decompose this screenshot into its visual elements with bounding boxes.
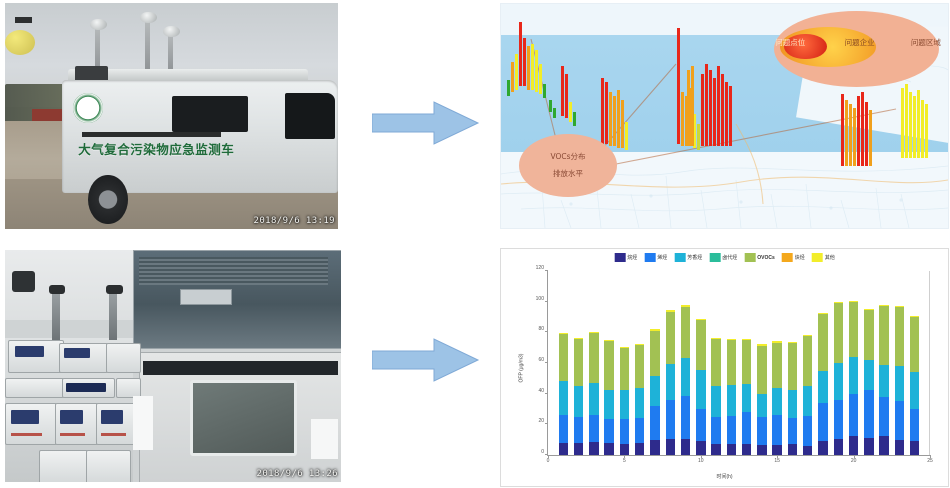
chart-legend-item[interactable]: 其他 [812,253,835,262]
lab-monitor-screen [193,383,294,453]
chart-bar-segment [803,386,812,417]
chart-bar-segment [910,372,919,410]
chart-bar-segment [635,418,644,443]
chart-bar-segment [834,439,843,455]
chart-bar-segment [589,415,598,441]
problem-hierarchy-diagram: 问题点位 问题企业 问题区域 [774,11,939,87]
chart-bar-segment [788,390,797,419]
lab-rack-unit-1 [5,378,64,399]
chart-legend-label: 烯烃 [657,254,667,261]
chart-bar-segment [589,383,598,416]
chart-x-tick-label: 25 [927,458,933,464]
chart-legend-swatch [614,253,625,262]
chart-x-tick-label: 10 [698,458,704,464]
chart-y-tick-mark [545,331,548,332]
lab-rack-display [66,383,106,392]
photo-monitoring-van: 大气复合污染物应急监测车 2018/9/6 13:19 [5,3,338,229]
chart-legend-label: 烷烃 [627,254,637,261]
arrow-right-icon [372,100,480,146]
chart-bar-segment [879,436,888,455]
chart-bar-segment [818,403,827,441]
chart-bar[interactable] [604,340,613,455]
chart-bar-segment [559,443,568,455]
agency-emblem [73,93,103,122]
chart-y-axis-label: OFP (μg/m3) [518,353,524,382]
lab-ceiling-fixture [12,271,36,292]
chart-bar-segment [650,440,659,455]
chart-bar-segment [604,341,613,389]
chart-y-tick-label: 40 [538,388,544,394]
lab-monitor [190,380,297,456]
chart-bar-segment [620,444,629,455]
chart-bar[interactable] [803,335,812,455]
lab-analyzer-display [15,346,45,356]
chart-bar-segment [696,320,705,370]
chart-legend-item[interactable]: 烷烃 [614,253,637,262]
chart-bar-segment [879,306,888,365]
chart-x-axis-label: 时间(h) [716,473,732,480]
lab-gc-module-1 [5,403,57,444]
chart-bar-segment [620,348,629,391]
chart-bar-segment [650,406,659,440]
chart-legend-label: OVOCs [757,255,775,261]
chart-bar-segment [818,441,827,455]
voc-distribution-bubble: VOCs分布 排放水平 [519,134,617,197]
chart-bar-segment [803,416,812,445]
chart-bar-segment [696,370,705,408]
chart-x-tick-label: 20 [851,458,857,464]
chart-legend-swatch [744,253,755,262]
chart-bar-segment [895,401,904,440]
van-body-text: 大气复合污染物应急监测车 [78,139,278,158]
chart-bar-segment [849,302,858,357]
chart-bar[interactable] [864,309,873,455]
lab-analyzer-display [64,348,90,357]
chart-bar-segment [711,417,720,444]
lab-gc-module-2 [55,403,97,444]
chart-bar-segment [910,441,919,455]
ofp-stacked-bar-chart: 烷烃烯烃芳香烃卤代烃OVOCs炔烃其他 OFP (μg/m3) 时间(h) 02… [500,248,949,487]
lab-gc-display [101,410,123,423]
chart-bar[interactable] [589,332,598,455]
chart-bar[interactable] [696,319,705,455]
chart-y-tick-label: 120 [536,265,544,271]
chart-bar[interactable] [727,339,736,455]
chart-y-tick-label: 0 [541,449,544,455]
chart-right-axis [929,271,930,455]
chart-bar-segment [559,415,568,443]
chart-bar[interactable] [895,306,904,455]
chart-bar-segment [635,443,644,455]
chart-bar-segment [696,441,705,455]
sampling-mast-head-3 [163,26,180,37]
chart-bar[interactable] [742,339,751,455]
chart-bar[interactable] [788,342,797,455]
chart-bar-segment [666,439,675,455]
chart-bar-segment [772,445,781,455]
lab-gc-brandmark [11,433,42,437]
chart-bar-segment [589,333,598,382]
chart-bar[interactable] [834,302,843,455]
chart-bar-segment [650,331,659,376]
chart-bar-segment [864,360,873,391]
slide-root: 大气复合污染物应急监测车 2018/9/6 13:19 [0,0,950,488]
chart-bar-segment [589,442,598,455]
lab-gc-display [60,410,82,423]
sampling-mast-head-1 [90,19,107,30]
chart-bar-segment [803,446,812,456]
problem-region-label: 问题区域 [843,37,949,48]
street-lamp [5,30,35,55]
chart-bar-segment [574,386,583,417]
chart-bar-segment [879,365,888,396]
chart-bar[interactable] [635,344,644,455]
chart-bar-segment [727,416,736,444]
chart-bar-segment [559,334,568,381]
chart-bar-segment [604,419,613,442]
voc-3d-map: 问题点位 问题企业 问题区域 VOCs分布 排放水平 [500,3,949,229]
chart-bar-segment [711,444,720,455]
arrow-right-bottom [372,337,480,383]
chart-y-tick-label: 20 [538,418,544,424]
lab-paper-sheet-2 [311,419,338,458]
lab-equipment-label [180,289,232,305]
chart-bar-segment [727,444,736,455]
chart-x-tick-label: 0 [547,458,550,464]
sampling-mast-2 [145,17,150,74]
lab-gc-module-3 [96,403,138,444]
chart-legend-swatch [709,253,720,262]
chart-bar[interactable] [849,301,858,455]
lab-sample-probe-head-1 [49,285,66,294]
chart-bar-segment [727,340,736,385]
chart-bar-segment [772,343,781,388]
chart-legend-item[interactable]: OVOCs [744,253,775,262]
chart-bar-segment [879,397,888,436]
chart-legend: 烷烃烯烃芳香烃卤代烃OVOCs炔烃其他 [614,253,835,262]
chart-bar[interactable] [879,305,888,455]
sampling-mast-head-2 [140,12,157,23]
chart-bar-segment [742,340,751,384]
van-cab-window [285,93,335,138]
chart-bar-segment [895,307,904,365]
chart-bar-segment [666,400,675,439]
chart-bar[interactable] [666,310,675,455]
arrow-right-top [372,100,480,146]
lab-rack-unit-2 [62,378,114,399]
chart-bar[interactable] [681,305,690,455]
chart-bar-segment [666,312,675,365]
chart-bar-segment [910,409,919,441]
chart-bar-segment [849,357,858,394]
chart-bar-segment [910,317,919,371]
chart-bar-segment [650,376,659,406]
chart-y-tick-mark [545,270,548,271]
voc-bubble-line2: 排放水平 [519,168,617,179]
chart-bar[interactable] [910,316,919,455]
chart-bar-segment [864,390,873,437]
chart-legend-item[interactable]: 芳香烃 [674,253,702,262]
chart-x-tick-label: 15 [774,458,780,464]
lab-analyzer-1 [8,340,64,372]
chart-bar-segment [742,412,751,444]
chart-bar-segment [834,303,843,363]
chart-legend-label: 其他 [825,254,835,261]
chart-bar-segment [574,417,583,443]
chart-legend-swatch [782,253,793,262]
chart-y-tick-mark [545,423,548,424]
chart-bar-segment [604,443,613,455]
chart-bar-segment [895,440,904,455]
chart-bar[interactable] [757,344,766,455]
lab-lower-unit-2 [86,450,132,482]
chart-bar-segment [696,409,705,441]
chart-plot-area: 0204060801001200510152025 [547,271,930,456]
chart-bar-segment [834,400,843,439]
chart-y-tick-label: 80 [538,326,544,332]
chart-y-tick-label: 100 [536,296,544,302]
chart-bar-segment [681,396,690,440]
chart-bar-segment [788,444,797,455]
chart-x-tick-label: 5 [623,458,626,464]
chart-bar-segment [559,381,568,414]
lamp-arm [15,17,32,24]
chart-bar[interactable] [650,329,659,455]
chart-bar-segment [788,343,797,390]
lab-sample-probe-head-2 [106,285,123,294]
chart-y-tick-mark [545,301,548,302]
chart-legend-label: 芳香烃 [687,254,702,261]
chart-bar-segment [757,445,766,455]
chart-bar-segment [666,364,675,399]
van-stripe [82,132,222,137]
chart-bar-segment [681,439,690,455]
chart-bar-segment [635,388,644,417]
chart-legend-label: 卤代烃 [722,254,737,261]
chart-bar-segment [635,345,644,388]
chart-legend-item[interactable]: 烯烃 [644,253,667,262]
van-window [172,96,249,132]
chart-bar-segment [574,339,583,386]
chart-bar-segment [849,436,858,455]
chart-bar-segment [620,419,629,444]
chart-y-tick-label: 60 [538,357,544,363]
chart-bar[interactable] [620,347,629,455]
chart-bar[interactable] [559,333,568,455]
chart-bar-segment [803,336,812,386]
photo-lab-interior: 2018/9/6 13:26 [5,250,341,482]
chart-bar-segment [757,346,766,394]
chart-bar-segment [864,438,873,455]
chart-bar-segment [574,443,583,455]
lab-control-strip [143,361,338,375]
chart-bar-segment [681,307,690,359]
chart-legend-item[interactable]: 卤代烃 [709,253,737,262]
chart-bar-segment [757,394,766,418]
chart-bar-segment [849,394,858,436]
lab-gc-brandmark [101,433,126,437]
chart-bar-segment [788,418,797,444]
chart-legend-swatch [674,253,685,262]
lab-analyzer-2 [59,343,108,373]
chart-bar-segment [711,386,720,417]
chart-bar-segment [681,358,690,395]
lab-gc-brandmark [60,433,85,437]
chart-bar-segment [620,390,629,418]
lab-sample-probe-2 [109,289,117,340]
lab-analyzer-3 [106,343,142,373]
lab-lower-unit-1 [39,450,88,482]
chart-bar-segment [772,415,781,445]
chart-bar[interactable] [772,341,781,455]
chart-bar-segment [604,390,613,420]
chart-bar-segment [742,444,751,455]
chart-bar-segment [757,417,766,444]
chart-bar[interactable] [711,338,720,455]
lab-vent-grille [139,257,327,285]
lab-sample-probe-1 [52,289,60,340]
voc-bubble-line1: VOCs分布 [519,151,617,162]
photo-timestamp: 2018/9/6 13:19 [254,216,335,226]
arrow-right-icon [372,337,480,383]
lab-rack-unit-3 [116,378,142,399]
chart-y-tick-mark [545,362,548,363]
chart-bar[interactable] [818,313,827,455]
chart-bar-segment [772,388,781,415]
lab-paper-sheet [133,396,153,449]
chart-legend-swatch [644,253,655,262]
chart-bar-segment [711,339,720,386]
chart-bar-segment [895,366,904,401]
chart-legend-swatch [812,253,823,262]
chart-legend-item[interactable]: 炔烃 [782,253,805,262]
chart-bar-segment [864,310,873,360]
chart-bar-segment [818,314,827,370]
chart-bar[interactable] [574,338,583,455]
chart-bar-segment [834,363,843,400]
chart-bar-segment [818,371,827,403]
chart-y-tick-mark [545,393,548,394]
chart-bar-segment [727,385,736,416]
chart-legend-label: 炔烃 [795,254,805,261]
photo-timestamp: 2018/9/6 13:26 [257,469,338,479]
lab-gc-display [11,410,39,423]
chart-bar-segment [742,384,751,412]
